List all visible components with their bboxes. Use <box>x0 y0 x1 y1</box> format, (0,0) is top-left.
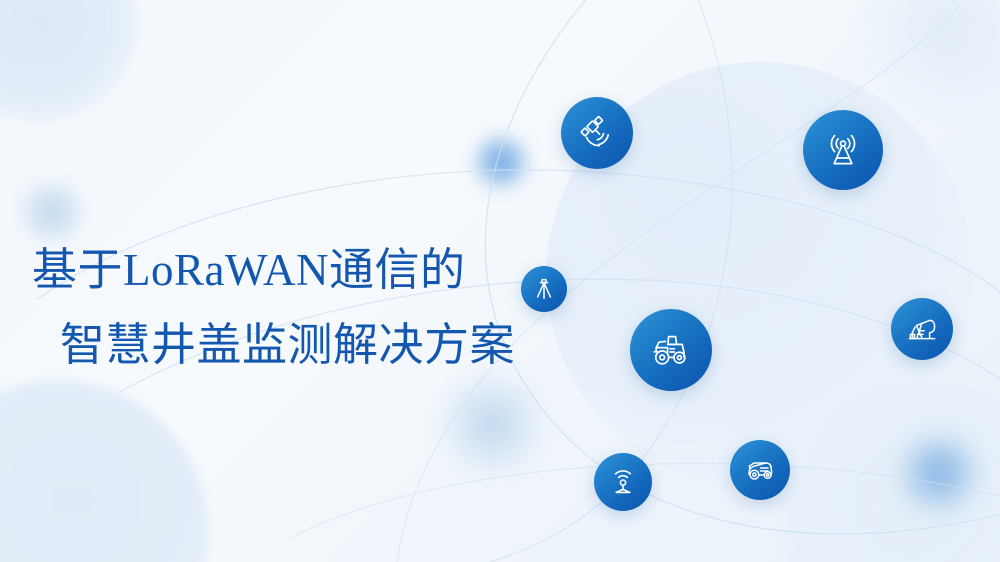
icon-node-sensor[interactable] <box>594 453 652 511</box>
icon-node-tripod[interactable] <box>521 266 567 312</box>
tractor-icon <box>648 327 694 373</box>
decor-dot-lower-right <box>898 432 980 514</box>
harvester-vehicle-icon <box>743 453 777 487</box>
survey-tripod-icon <box>531 276 557 302</box>
decor-blob-top-right <box>860 0 1000 120</box>
title-line-1: 基于LoRaWAN通信的 <box>32 233 562 308</box>
decor-blob-bottom-left <box>0 380 208 562</box>
decor-blob-top-left <box>0 0 138 122</box>
icon-node-tractor[interactable] <box>630 309 712 391</box>
oil-pumpjack-icon <box>904 311 940 347</box>
decor-blob-bottom-right <box>786 380 1000 562</box>
icon-node-satellite[interactable] <box>561 97 633 169</box>
cover-slide: 基于LoRaWAN通信的 智慧井盖监测解决方案 <box>0 0 1000 562</box>
satellite-icon <box>577 113 617 153</box>
icon-node-pumpjack[interactable] <box>891 298 953 360</box>
decor-dot-upper <box>472 133 530 191</box>
title-line-2: 智慧井盖监测解决方案 <box>32 308 562 383</box>
decor-dot-middle <box>440 372 544 476</box>
icon-node-antenna[interactable] <box>803 110 883 190</box>
broadcast-tower-icon <box>821 128 865 172</box>
slide-title: 基于LoRaWAN通信的 智慧井盖监测解决方案 <box>32 233 562 383</box>
icon-node-harvester[interactable] <box>730 440 790 500</box>
wireless-sensor-icon <box>607 466 639 498</box>
